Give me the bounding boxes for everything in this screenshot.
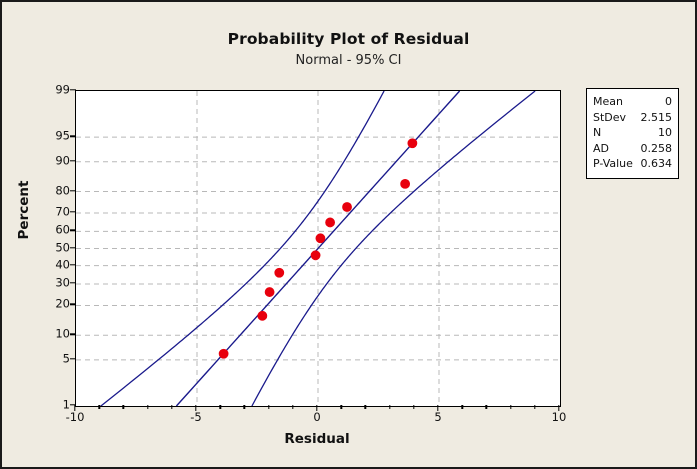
statistic-row-mean: Mean0 — [593, 94, 672, 110]
x-axis-tick-mark-0 — [316, 405, 317, 411]
x-axis-tick-mark-10 — [558, 405, 559, 411]
statistics-box: Mean0StDev2.515N10AD0.258P-Value0.634 — [586, 88, 679, 179]
x-axis-minor-tick--4 — [219, 405, 220, 409]
statistic-label: StDev — [593, 110, 626, 126]
x-axis-tick-marks — [75, 2, 559, 469]
x-axis-minor-tick-6 — [461, 405, 462, 409]
x-axis-title: Residual — [75, 431, 559, 447]
x-axis-minor-tick-2 — [365, 405, 366, 409]
probability-plot-window: Probability Plot of Residual Normal - 95… — [0, 0, 697, 469]
x-axis-minor-tick-3 — [389, 405, 390, 409]
statistic-value: 0.258 — [641, 141, 673, 157]
statistic-value: 2.515 — [641, 110, 673, 126]
x-axis-minor-tick--3 — [244, 405, 245, 409]
x-axis-minor-tick--6 — [171, 405, 172, 409]
x-axis-tick-mark--10 — [74, 405, 75, 411]
statistic-value: 0 — [665, 94, 672, 110]
x-axis-tick-mark-5 — [437, 405, 438, 411]
y-axis-title: Percent — [16, 170, 32, 250]
x-axis-minor-tick--9 — [98, 405, 99, 409]
statistic-row-stdev: StDev2.515 — [593, 110, 672, 126]
x-axis-minor-tick--8 — [123, 405, 124, 409]
statistic-row-ad: AD0.258 — [593, 141, 672, 157]
statistic-row-p-value: P-Value0.634 — [593, 156, 672, 172]
x-axis-minor-tick--7 — [147, 405, 148, 409]
statistic-row-n: N10 — [593, 125, 672, 141]
x-axis-minor-tick-7 — [486, 405, 487, 409]
y-axis-tick-marks — [2, 90, 82, 405]
statistic-label: AD — [593, 141, 609, 157]
statistic-value: 10 — [658, 125, 672, 141]
x-axis-minor-tick--2 — [268, 405, 269, 409]
statistic-label: Mean — [593, 94, 623, 110]
x-axis-minor-tick-4 — [413, 405, 414, 409]
x-axis-minor-tick-8 — [510, 405, 511, 409]
x-axis-minor-tick-1 — [340, 405, 341, 409]
x-axis-minor-tick--1 — [292, 405, 293, 409]
statistic-value: 0.634 — [641, 156, 673, 172]
x-axis-minor-tick-9 — [534, 405, 535, 409]
statistic-label: P-Value — [593, 156, 633, 172]
x-axis-tick-mark--5 — [195, 405, 196, 411]
statistic-label: N — [593, 125, 601, 141]
